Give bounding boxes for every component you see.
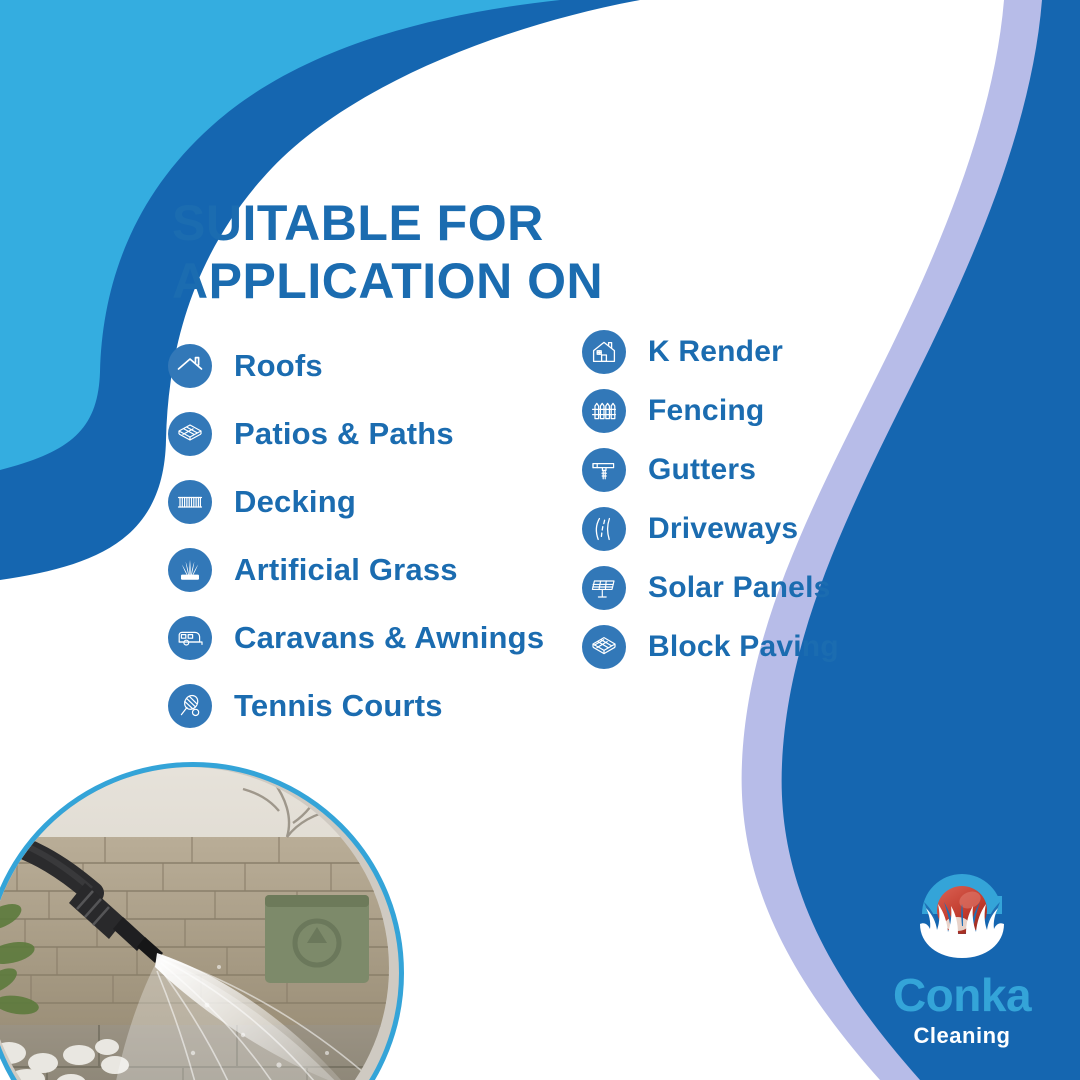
feature-item-patios-paths[interactable]: Patios & Paths: [168, 400, 544, 468]
feature-label: Gutters: [648, 453, 756, 487]
gutter-icon: [582, 448, 626, 492]
tennis-racket-icon: [168, 684, 212, 728]
feature-item-k-render[interactable]: K Render: [582, 322, 839, 381]
caravan-icon: [168, 616, 212, 660]
feature-label: Driveways: [648, 512, 798, 546]
feature-label: Patios & Paths: [234, 416, 454, 452]
feature-item-solar-panels[interactable]: Solar Panels: [582, 558, 839, 617]
feature-item-gutters[interactable]: Gutters: [582, 440, 839, 499]
conker-splash-c-icon: [862, 862, 1062, 966]
page-title: SUITABLE FOR APPLICATION ON: [172, 194, 692, 310]
feature-label: K Render: [648, 335, 783, 369]
feature-label: Roofs: [234, 348, 323, 384]
feature-item-decking[interactable]: Decking: [168, 468, 544, 536]
feature-label: Caravans & Awnings: [234, 620, 544, 656]
block-paving-icon: [582, 625, 626, 669]
feature-label: Artificial Grass: [234, 552, 458, 588]
road-icon: [582, 507, 626, 551]
logo-brand: Conka: [862, 972, 1062, 1018]
feature-label: Decking: [234, 484, 356, 520]
fence-icon: [582, 389, 626, 433]
logo-tagline: Cleaning: [862, 1025, 1062, 1047]
roof-icon: [168, 344, 212, 388]
feature-list-left: Roofs Patios & Paths Decking: [168, 332, 544, 740]
feature-item-caravans-awnings[interactable]: Caravans & Awnings: [168, 604, 544, 672]
poster: SUITABLE FOR APPLICATION ON Roofs: [0, 0, 1080, 1080]
decking-icon: [168, 480, 212, 524]
feature-label: Tennis Courts: [234, 688, 443, 724]
feature-item-block-paving[interactable]: Block Paving: [582, 617, 839, 676]
feature-label: Fencing: [648, 394, 764, 428]
feature-item-artificial-grass[interactable]: Artificial Grass: [168, 536, 544, 604]
feature-item-driveways[interactable]: Driveways: [582, 499, 839, 558]
logo: Conka Cleaning: [862, 862, 1062, 1047]
pressure-washer-illustration: [0, 767, 389, 1080]
feature-list-right: K Render Fencing: [582, 322, 839, 676]
paving-stack-icon: [168, 412, 212, 456]
feature-item-tennis-courts[interactable]: Tennis Courts: [168, 672, 544, 740]
feature-item-fencing[interactable]: Fencing: [582, 381, 839, 440]
feature-label: Solar Panels: [648, 571, 831, 605]
feature-label: Block Paving: [648, 630, 839, 664]
grass-icon: [168, 548, 212, 592]
solar-panel-icon: [582, 566, 626, 610]
house-icon: [582, 330, 626, 374]
feature-item-roofs[interactable]: Roofs: [168, 332, 544, 400]
